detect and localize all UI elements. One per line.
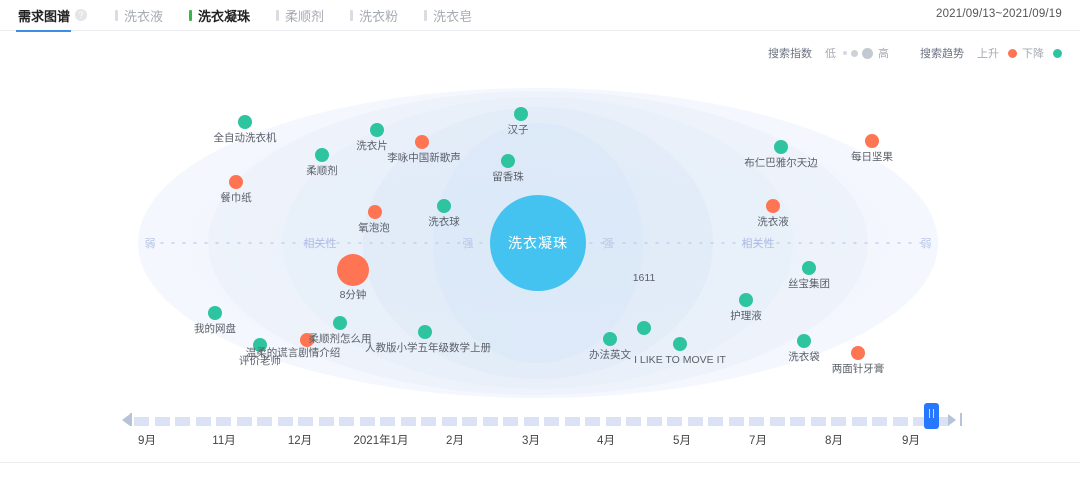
- demand-graph-chart[interactable]: 弱 相关性 强 强 相关性 弱 洗衣凝珠 全自动洗衣机餐巾纸柔顺剂洗衣片李咏中国…: [0, 70, 1080, 400]
- timeline-tick-label: 5月: [673, 432, 691, 448]
- timeline-tick-label: 8月: [825, 432, 843, 448]
- footer-area: [0, 463, 1080, 481]
- timeline-segment[interactable]: [852, 417, 867, 426]
- chart-node-label: 留香珠: [492, 171, 524, 183]
- axis-label-left-outer: 弱: [145, 235, 156, 251]
- legend-size-small-icon: [843, 51, 847, 55]
- timeline-segment[interactable]: [729, 417, 744, 426]
- timeline-segment[interactable]: [811, 417, 826, 426]
- page-header: 需求图谱 ? 洗衣液 洗衣凝珠 柔顺剂 洗衣粉 洗衣皂: [0, 0, 1080, 31]
- chart-node-label: 洗衣片: [356, 140, 388, 152]
- chart-node-bubble[interactable]: [415, 135, 429, 149]
- timeline-segment[interactable]: [339, 417, 354, 426]
- timeline-end-bar: [960, 413, 962, 426]
- legend-trend-up-icon: [1008, 49, 1017, 58]
- tab-xiyiningzhu[interactable]: 洗衣凝珠: [189, 6, 250, 25]
- chart-node-label: 餐巾纸: [220, 192, 252, 204]
- arrow-left-icon[interactable]: [122, 414, 130, 426]
- legend-size-large-icon: [862, 48, 873, 59]
- timeline-segment[interactable]: [483, 417, 498, 426]
- chart-node-label: 丝宝集团: [788, 278, 830, 290]
- timeline-tick-label: 9月: [902, 432, 920, 448]
- tab-xiyifen[interactable]: 洗衣粉: [350, 6, 398, 25]
- chart-node-bubble[interactable]: [514, 107, 528, 121]
- timeline-segment[interactable]: [196, 417, 211, 426]
- page-title: 需求图谱 ?: [16, 0, 89, 31]
- chart-node-label: 柔顺剂: [306, 165, 338, 177]
- timeline-segment[interactable]: [134, 417, 149, 426]
- chart-node-bubble[interactable]: [229, 175, 243, 189]
- chart-node-label: 护理液: [730, 310, 762, 322]
- legend-trend-up-label: 上升: [977, 45, 999, 61]
- timeline-tick-label: 9月: [138, 432, 156, 448]
- timeline-segment[interactable]: [831, 417, 846, 426]
- timeline-segment[interactable]: [688, 417, 703, 426]
- chart-node-label: 人教版小学五年级数学上册: [365, 342, 491, 354]
- timeline-segment[interactable]: [257, 417, 272, 426]
- timeline-segment[interactable]: [770, 417, 785, 426]
- page-title-label: 需求图谱: [18, 6, 70, 25]
- chart-node-label: I LIKE TO MOVE IT: [634, 354, 726, 366]
- date-range-label[interactable]: 2021/09/13~2021/09/19: [936, 8, 1062, 20]
- legend-search-index: 搜索指数 低 高: [768, 45, 894, 61]
- timeline-segment[interactable]: [708, 417, 723, 426]
- tab-roushunji[interactable]: 柔顺剂: [276, 6, 324, 25]
- axis-label-right-inner: 强: [603, 235, 614, 251]
- legend-search-trend: 搜索趋势 上升 下降: [920, 45, 1062, 61]
- timeline-segment[interactable]: [380, 417, 395, 426]
- tab-label: 洗衣液: [124, 6, 163, 25]
- timeline-track[interactable]: [134, 417, 944, 426]
- chart-node-bubble[interactable]: [851, 346, 865, 360]
- timeline-segment[interactable]: [893, 417, 908, 426]
- tab-marker-icon: [424, 10, 427, 21]
- axis-label-right-outer: 弱: [921, 235, 932, 251]
- timeline-segment[interactable]: [462, 417, 477, 426]
- chart-node-bubble[interactable]: [437, 199, 451, 213]
- chart-node-label: 布仁巴雅尔天边: [744, 157, 818, 169]
- tab-label: 柔顺剂: [285, 6, 324, 25]
- timeline-segment[interactable]: [667, 417, 682, 426]
- timeline-segment[interactable]: [360, 417, 375, 426]
- question-mark-icon[interactable]: ?: [75, 9, 87, 21]
- chart-node-bubble[interactable]: [802, 261, 816, 275]
- timeline-segment[interactable]: [626, 417, 641, 426]
- chart-node-bubble[interactable]: [865, 134, 879, 148]
- chart-node-bubble[interactable]: [797, 334, 811, 348]
- axis-label-left-mid: 相关性: [304, 235, 337, 251]
- tab-marker-icon: [189, 10, 192, 21]
- timeline-tick-label: 2月: [446, 432, 464, 448]
- tab-marker-icon: [276, 10, 279, 21]
- chart-node-label: 全自动洗衣机: [214, 132, 277, 144]
- timeline-segment[interactable]: [175, 417, 190, 426]
- tab-label: 洗衣粉: [359, 6, 398, 25]
- demand-graph-page: 需求图谱 ? 洗衣液 洗衣凝珠 柔顺剂 洗衣粉 洗衣皂: [0, 0, 1080, 481]
- timeline-tick-label: 12月: [288, 432, 312, 448]
- axis-label-left-inner: 强: [463, 235, 474, 251]
- chart-node-label: 每日坚果: [851, 151, 893, 163]
- timeline-tick-label: 11月: [212, 432, 235, 448]
- legend-index-low: 低: [825, 45, 836, 61]
- chart-node-bubble[interactable]: [333, 316, 347, 330]
- timeline-slider[interactable]: 9月11月12月2021年1月2月3月4月5月7月8月9月: [0, 412, 1080, 460]
- timeline-segment[interactable]: [237, 417, 252, 426]
- timeline-segment[interactable]: [319, 417, 334, 426]
- timeline-segment[interactable]: [749, 417, 764, 426]
- timeline-segment[interactable]: [585, 417, 600, 426]
- chart-node-label: 洗衣袋: [788, 351, 820, 363]
- chart-node-label: 1611: [633, 272, 656, 284]
- timeline-start-bar: [130, 413, 132, 426]
- arrow-right-icon[interactable]: [948, 414, 956, 426]
- chart-node-bubble[interactable]: [637, 321, 651, 335]
- timeline-segment[interactable]: [565, 417, 580, 426]
- tab-label: 洗衣皂: [433, 6, 472, 25]
- tab-xiyizao[interactable]: 洗衣皂: [424, 6, 472, 25]
- legend-trend-down-icon: [1053, 49, 1062, 58]
- chart-node-label: 两面针牙膏: [832, 363, 885, 375]
- chart-node-label: 汉子: [508, 124, 529, 136]
- chart-node-label: 柔顺剂怎么用: [309, 333, 372, 345]
- chart-node-bubble[interactable]: [739, 293, 753, 307]
- chart-node-bubble[interactable]: [501, 154, 515, 168]
- chart-node-bubble[interactable]: [418, 325, 432, 339]
- chart-node-bubble[interactable]: [368, 205, 382, 219]
- chart-node-bubble[interactable]: [774, 140, 788, 154]
- center-node-xiyiningzhu[interactable]: 洗衣凝珠: [490, 195, 586, 291]
- timeline-segment[interactable]: [503, 417, 518, 426]
- legend-trend-title: 搜索趋势: [920, 45, 964, 61]
- timeline-segment[interactable]: [790, 417, 805, 426]
- timeline-tick-label: 4月: [597, 432, 615, 448]
- chart-node-label: 温柔的谎言剧情介绍: [246, 347, 341, 359]
- timeline-segment[interactable]: [442, 417, 457, 426]
- page-title-underline: [16, 30, 71, 32]
- timeline-handle[interactable]: [924, 403, 939, 429]
- timeline-segment[interactable]: [544, 417, 559, 426]
- legend-index-title: 搜索指数: [768, 45, 812, 61]
- axis-label-right-mid: 相关性: [742, 235, 775, 251]
- tab-marker-icon: [350, 10, 353, 21]
- chart-node-label: 洗衣液: [757, 216, 789, 228]
- chart-node-label: 洗衣球: [428, 216, 460, 228]
- chart-node-label: 8分钟: [340, 289, 367, 301]
- tab-marker-icon: [115, 10, 118, 21]
- timeline-tick-label: 7月: [749, 432, 767, 448]
- chart-node-label: 办法英文: [589, 349, 631, 361]
- chart-node-bubble[interactable]: [673, 337, 687, 351]
- tab-label: 洗衣凝珠: [198, 6, 250, 25]
- chart-node-label: 氧泡泡: [358, 222, 390, 234]
- chart-node-bubble[interactable]: [238, 115, 252, 129]
- timeline-segment[interactable]: [401, 417, 416, 426]
- chart-node-bubble[interactable]: [337, 254, 369, 286]
- legend-trend-down-label: 下降: [1022, 45, 1044, 61]
- timeline-segment[interactable]: [606, 417, 621, 426]
- chart-node-bubble[interactable]: [208, 306, 222, 320]
- chart-legend: 搜索指数 低 高 搜索趋势 上升 下降: [768, 45, 1062, 61]
- center-node-label: 洗衣凝珠: [508, 233, 568, 253]
- timeline-segment[interactable]: [278, 417, 293, 426]
- tab-bar: 需求图谱 ? 洗衣液 洗衣凝珠 柔顺剂 洗衣粉 洗衣皂: [16, 0, 472, 31]
- timeline-segment[interactable]: [647, 417, 662, 426]
- tab-xiyiye[interactable]: 洗衣液: [115, 6, 163, 25]
- timeline-segment[interactable]: [421, 417, 436, 426]
- chart-node-bubble[interactable]: [603, 332, 617, 346]
- timeline-segment[interactable]: [155, 417, 170, 426]
- chart-node-bubble[interactable]: [315, 148, 329, 162]
- chart-node-label: 李咏中国新歌声: [387, 152, 461, 164]
- chart-node-bubble[interactable]: [370, 123, 384, 137]
- legend-size-medium-icon: [851, 50, 858, 57]
- chart-node-bubble[interactable]: [766, 199, 780, 213]
- timeline-segment[interactable]: [216, 417, 231, 426]
- timeline-segment[interactable]: [524, 417, 539, 426]
- timeline-segment[interactable]: [298, 417, 313, 426]
- timeline-tick-label: 3月: [522, 432, 540, 448]
- timeline-tick-label: 2021年1月: [354, 432, 409, 448]
- chart-node-label: 我的网盘: [194, 323, 236, 335]
- timeline-segment[interactable]: [872, 417, 887, 426]
- legend-index-high: 高: [878, 45, 889, 61]
